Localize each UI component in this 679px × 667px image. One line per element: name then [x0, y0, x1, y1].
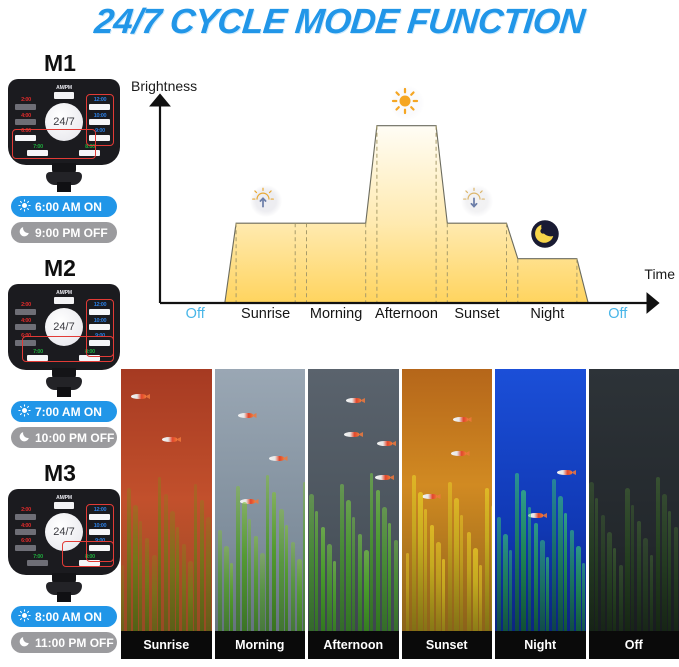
timer-key[interactable]	[15, 309, 36, 315]
x-tick-off-6: Off	[608, 306, 627, 322]
timer-key[interactable]	[15, 104, 36, 110]
photo-panel-sunrise: Sunrise	[121, 369, 212, 659]
timer-button-left-4-00[interactable]: 4:00	[15, 318, 37, 331]
controller-device[interactable]: AM/PM24/72:004:006:0012:0010:009:007:008…	[8, 79, 120, 191]
panel-caption: Morning	[215, 631, 306, 659]
timer-key[interactable]	[15, 529, 36, 535]
bottom-timer-row: 7:008:00	[27, 349, 101, 365]
timer-button-bottom-8-00[interactable]: 8:00	[79, 144, 101, 157]
timer-button-left-6-00[interactable]: 6:00	[15, 538, 37, 551]
timer-button-bottom-8-00[interactable]: 8:00	[79, 554, 101, 567]
fish	[453, 417, 468, 422]
timer-key[interactable]	[15, 119, 36, 125]
device-body: AM/PM24/72:004:006:0012:0010:009:007:008…	[8, 284, 120, 370]
timer-key[interactable]	[27, 355, 48, 361]
timer-button-bottom-7-00[interactable]: 7:00	[27, 554, 49, 567]
sun-icon	[18, 404, 31, 419]
timer-key[interactable]	[79, 560, 100, 566]
timer-button-bottom-8-00[interactable]: 8:00	[79, 349, 101, 362]
right-timer-column: 12:0010:009:00	[89, 507, 113, 554]
mode-label: M1	[4, 50, 116, 77]
ampm-label: AM/PM	[52, 495, 76, 501]
device-body: AM/PM24/72:004:006:0012:0010:009:007:008…	[8, 79, 120, 165]
timer-button-right-9-00[interactable]: 9:00	[89, 333, 111, 346]
tank-plants	[589, 450, 679, 659]
ampm-button[interactable]: AM/PM	[52, 495, 76, 509]
aquarium-photo-strip: SunriseMorningAfternoonSunsetNightOff	[121, 369, 679, 659]
mode-block-m1: M1AM/PM24/72:004:006:0012:0010:009:007:0…	[4, 50, 124, 243]
ampm-label: AM/PM	[52, 85, 76, 91]
bottom-timer-row: 7:008:00	[27, 144, 101, 160]
device-stem	[57, 592, 71, 602]
timer-key[interactable]	[89, 104, 110, 110]
timer-key[interactable]	[89, 514, 110, 520]
timer-key[interactable]	[27, 560, 48, 566]
chart-x-tick-labels: OffSunriseMorningAfternoonSunsetNightOff	[126, 306, 679, 326]
tank-plants	[215, 450, 306, 659]
timer-button-right-10-00[interactable]: 10:00	[89, 113, 111, 126]
mode-dial[interactable]: 24/7	[45, 513, 83, 551]
x-tick-sunset-4: Sunset	[454, 306, 499, 322]
timer-key[interactable]	[15, 324, 36, 330]
brightness-cycle-chart: Brightness Time OffSunriseMorningAfterno…	[126, 78, 679, 328]
night-icon	[530, 219, 564, 253]
ampm-button[interactable]: AM/PM	[52, 85, 76, 99]
sun-icon	[18, 609, 31, 624]
timer-button-right-12-00[interactable]: 12:00	[89, 507, 111, 520]
left-timer-column: 2:004:006:00	[15, 507, 39, 554]
timer-button-right-12-00[interactable]: 12:00	[89, 302, 111, 315]
moon-icon	[18, 430, 31, 445]
timer-key[interactable]	[89, 119, 110, 125]
timer-button-right-12-00[interactable]: 12:00	[89, 97, 111, 110]
fish	[377, 441, 392, 446]
tank-plants	[402, 450, 493, 659]
mode-label: M3	[4, 460, 116, 487]
schedule-off-pill: 11:00 PM OFF	[11, 632, 117, 653]
ampm-label: AM/PM	[52, 290, 76, 296]
timer-key[interactable]	[15, 545, 36, 551]
timer-key[interactable]	[89, 135, 110, 141]
device-body: AM/PM24/72:004:006:0012:0010:009:007:008…	[8, 489, 120, 575]
afternoon-icon	[390, 86, 424, 120]
fish	[346, 398, 361, 403]
mode-dial[interactable]: 24/7	[45, 103, 83, 141]
schedule-on-pill: 6:00 AM ON	[11, 196, 117, 217]
tank-plants	[495, 450, 586, 659]
timer-button-right-9-00[interactable]: 9:00	[89, 538, 111, 551]
timer-key[interactable]	[79, 150, 100, 156]
right-timer-column: 12:0010:009:00	[89, 97, 113, 144]
sunset-icon	[461, 185, 493, 217]
timer-button-right-10-00[interactable]: 10:00	[89, 523, 111, 536]
bottom-timer-row: 7:008:00	[27, 554, 101, 570]
left-timer-column: 2:004:006:00	[15, 302, 39, 349]
timer-button-right-9-00[interactable]: 9:00	[89, 128, 111, 141]
timer-key[interactable]	[89, 545, 110, 551]
ampm-key[interactable]	[54, 502, 74, 509]
timer-button-left-6-00[interactable]: 6:00	[15, 333, 37, 346]
ampm-key[interactable]	[54, 297, 74, 304]
right-timer-column: 12:0010:009:00	[89, 302, 113, 349]
timer-key[interactable]	[15, 135, 36, 141]
schedule-on-pill: 8:00 AM ON	[11, 606, 117, 627]
device-stem	[57, 182, 71, 192]
left-timer-column: 2:004:006:00	[15, 97, 39, 144]
sun-icon	[18, 199, 31, 214]
timer-key[interactable]	[27, 150, 48, 156]
photo-panel-sunset: Sunset	[402, 369, 493, 659]
photo-panel-off: Off	[589, 369, 679, 659]
timer-button-bottom-7-00[interactable]: 7:00	[27, 349, 49, 362]
x-tick-sunrise-1: Sunrise	[241, 306, 290, 322]
timer-button-left-4-00[interactable]: 4:00	[15, 113, 37, 126]
x-tick-off-0: Off	[186, 306, 205, 322]
mode-block-m2: M2AM/PM24/72:004:006:0012:0010:009:007:0…	[4, 255, 124, 448]
tank-plants	[308, 450, 399, 659]
brightness-area	[225, 126, 588, 303]
x-tick-morning-2: Morning	[310, 306, 362, 322]
x-tick-afternoon-3: Afternoon	[375, 306, 438, 322]
timer-button-left-2-00[interactable]: 2:00	[15, 97, 37, 110]
timer-key[interactable]	[89, 340, 110, 346]
moon-icon	[18, 225, 31, 240]
panel-caption: Sunset	[402, 631, 493, 659]
device-stem	[57, 387, 71, 397]
x-tick-night-5: Night	[530, 306, 564, 322]
mode-label: M2	[4, 255, 116, 282]
off-time-text: 11:00 PM OFF	[35, 636, 114, 650]
photo-panel-night: Night	[495, 369, 586, 659]
on-time-text: 8:00 AM ON	[35, 610, 102, 624]
timer-button-left-2-00[interactable]: 2:00	[15, 507, 37, 520]
timer-button-bottom-7-00[interactable]: 7:00	[27, 144, 49, 157]
moon-icon	[18, 635, 31, 650]
mode-block-m3: M3AM/PM24/72:004:006:0012:0010:009:007:0…	[4, 460, 124, 653]
photo-panel-afternoon: Afternoon	[308, 369, 399, 659]
fish	[344, 432, 359, 437]
on-time-text: 6:00 AM ON	[35, 200, 102, 214]
timer-key[interactable]	[89, 324, 110, 330]
timer-button-left-6-00[interactable]: 6:00	[15, 128, 37, 141]
schedule-off-pill: 9:00 PM OFF	[11, 222, 117, 243]
timer-key[interactable]	[15, 340, 36, 346]
panel-caption: Afternoon	[308, 631, 399, 659]
panel-caption: Off	[589, 631, 679, 659]
tank-plants	[121, 450, 212, 659]
infographic-root: 24/7 CYCLE MODE FUNCTION M1AM/PM24/72:00…	[0, 0, 679, 667]
controller-device[interactable]: AM/PM24/72:004:006:0012:0010:009:007:008…	[8, 489, 120, 601]
off-time-text: 10:00 PM OFF	[35, 431, 114, 445]
panel-caption: Night	[495, 631, 586, 659]
timer-key[interactable]	[89, 309, 110, 315]
off-time-text: 9:00 PM OFF	[35, 226, 108, 240]
ampm-key[interactable]	[54, 92, 74, 99]
timer-key[interactable]	[79, 355, 100, 361]
timer-button-right-10-00[interactable]: 10:00	[89, 318, 111, 331]
timer-key[interactable]	[89, 529, 110, 535]
timer-button-left-2-00[interactable]: 2:00	[15, 302, 37, 315]
on-time-text: 7:00 AM ON	[35, 405, 102, 419]
fish	[162, 437, 177, 442]
mode-dial[interactable]: 24/7	[45, 308, 83, 346]
page-title: 24/7 CYCLE MODE FUNCTION	[0, 2, 679, 42]
schedule-off-pill: 10:00 PM OFF	[11, 427, 117, 448]
panel-caption: Sunrise	[121, 631, 212, 659]
schedule-on-pill: 7:00 AM ON	[11, 401, 117, 422]
sunrise-icon	[250, 185, 282, 217]
fish	[131, 394, 146, 399]
fish	[238, 413, 253, 418]
timer-button-left-4-00[interactable]: 4:00	[15, 523, 37, 536]
timer-key[interactable]	[15, 514, 36, 520]
controller-device[interactable]: AM/PM24/72:004:006:0012:0010:009:007:008…	[8, 284, 120, 396]
photo-panel-morning: Morning	[215, 369, 306, 659]
ampm-button[interactable]: AM/PM	[52, 290, 76, 304]
